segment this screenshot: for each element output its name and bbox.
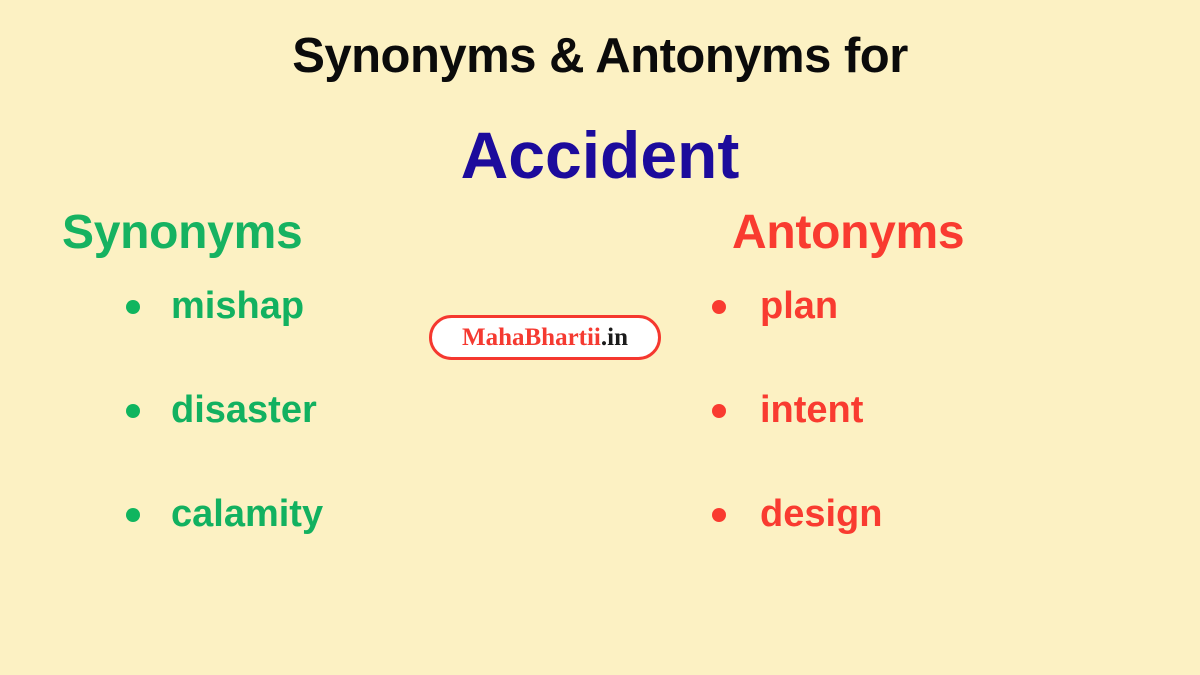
antonym-label: plan: [760, 284, 838, 328]
bullet-icon: [126, 404, 140, 418]
watermark-tld: .in: [601, 324, 628, 351]
synonym-label: mishap: [171, 284, 304, 328]
list-item: calamity: [30, 492, 550, 596]
synonym-label: disaster: [171, 388, 317, 432]
list-item: intent: [650, 388, 1170, 492]
watermark-badge: MahaBhartii.in: [429, 315, 661, 360]
list-item: disaster: [30, 388, 550, 492]
bullet-icon: [712, 300, 726, 314]
antonyms-column: Antonyms plan intent design: [650, 200, 1170, 675]
list-item: design: [650, 492, 1170, 596]
antonym-label: design: [760, 492, 882, 536]
bullet-icon: [712, 404, 726, 418]
antonyms-heading: Antonyms: [650, 200, 1170, 266]
poster-canvas: Synonyms & Antonyms for Accident Synonym…: [0, 0, 1200, 675]
list-item: plan: [650, 284, 1170, 388]
antonyms-list: plan intent design: [650, 284, 1170, 596]
antonym-label: intent: [760, 388, 863, 432]
headword: Accident: [0, 112, 1200, 198]
bullet-icon: [126, 300, 140, 314]
synonyms-heading: Synonyms: [30, 200, 550, 266]
synonym-label: calamity: [171, 492, 323, 536]
watermark-brand: MahaBhartii: [462, 324, 601, 351]
watermark-text: MahaBhartii.in: [462, 325, 628, 350]
synonyms-column: Synonyms mishap disaster calamity: [30, 200, 550, 675]
page-title: Synonyms & Antonyms for: [0, 26, 1200, 86]
word-columns: Synonyms mishap disaster calamity Antony…: [0, 200, 1200, 675]
bullet-icon: [126, 508, 140, 522]
bullet-icon: [712, 508, 726, 522]
